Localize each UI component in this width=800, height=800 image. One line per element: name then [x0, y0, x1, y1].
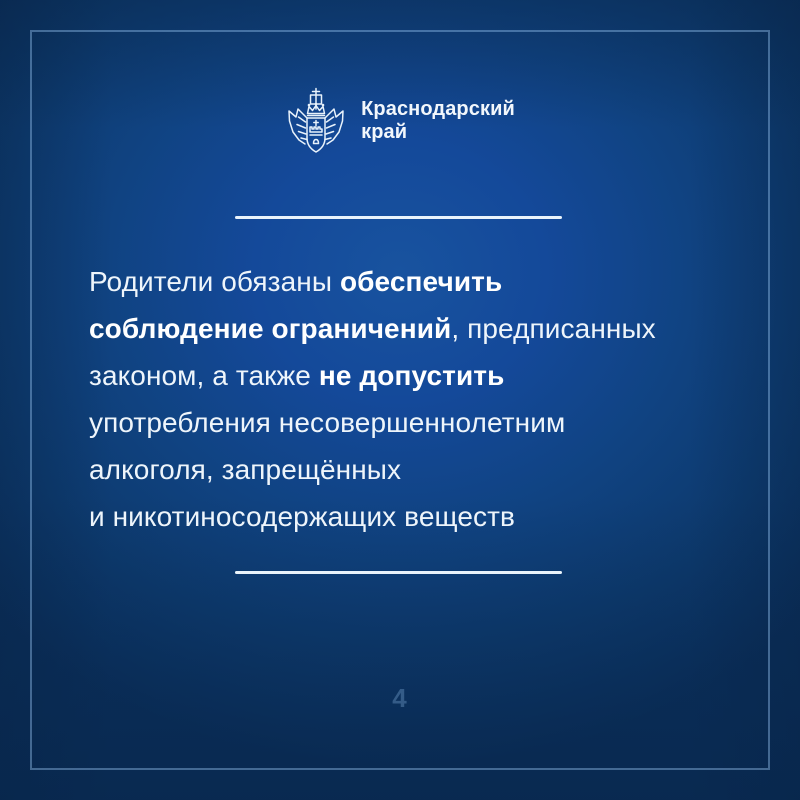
krasnodar-krai-coat-of-arms-icon	[285, 86, 347, 156]
body-text-line-6: и никотиносодержащих веществ	[89, 493, 729, 540]
body-text: Родители обязаны обеспечитьсоблюдение ог…	[89, 258, 729, 540]
body-text-line-3: законом, а также не допустить	[89, 352, 729, 399]
body-text-emphasis: обеспечить	[340, 266, 502, 297]
divider-rule-bottom	[235, 571, 562, 574]
brand-title: Краснодарский край	[361, 98, 515, 144]
body-text-run: и никотиносодержащих веществ	[89, 501, 515, 532]
page-number: 4	[0, 683, 800, 714]
body-text-line-4: употребления несовершеннолетним	[89, 399, 729, 446]
body-text-line-5: алкоголя, запрещённых	[89, 446, 729, 493]
body-text-line-2: соблюдение ограничений, предписанных	[89, 305, 729, 352]
body-text-run: алкоголя, запрещённых	[89, 454, 401, 485]
body-text-emphasis: не допустить	[319, 360, 505, 391]
slide-canvas: Краснодарский край Родители обязаны обес…	[0, 0, 800, 800]
body-text-run: , предписанных	[451, 313, 655, 344]
divider-rule-top	[235, 216, 562, 219]
body-text-run: употребления несовершеннолетним	[89, 407, 565, 438]
body-text-emphasis: соблюдение ограничений	[89, 313, 451, 344]
brand-lockup: Краснодарский край	[0, 86, 800, 156]
body-text-line-1: Родители обязаны обеспечить	[89, 258, 729, 305]
body-text-run: законом, а также	[89, 360, 319, 391]
body-text-run: Родители обязаны	[89, 266, 340, 297]
